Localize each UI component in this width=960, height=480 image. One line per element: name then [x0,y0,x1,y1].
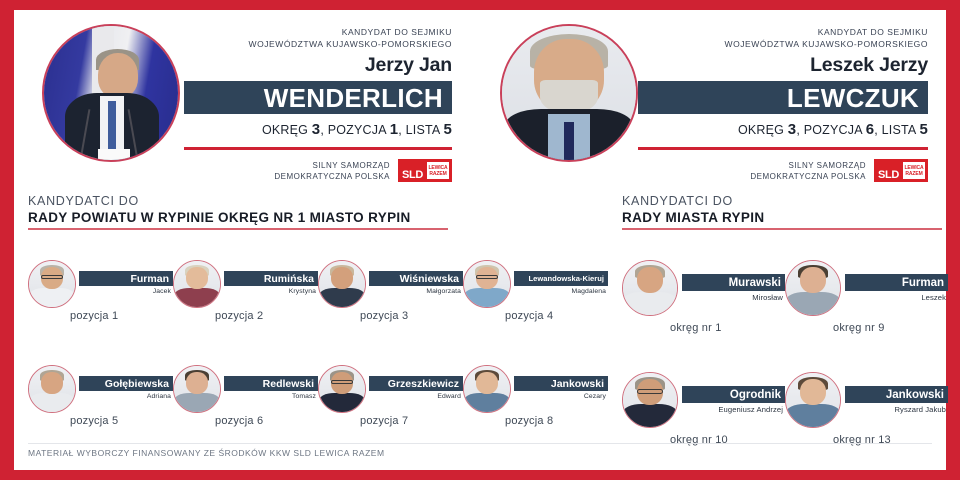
candidate-text-block: FurmanLeszek [845,252,948,302]
candidate-position-label: pozycja 1 [70,310,118,322]
slogan-line-1: SILNY SAMORZĄD [750,160,866,171]
candidate-surname-bar: WENDERLICH [184,81,452,114]
candidate-portrait [785,372,841,428]
candidate-first-name: Ryszard Jakub [845,405,948,414]
candidate-first-name: Leszek Jerzy [638,54,928,77]
candidate-card[interactable]: GrzeszkiewiczEdwardpozycja 7 [318,357,463,462]
portrait-art [29,366,75,412]
candidate-surname-bar: Jankowski [514,376,608,391]
position-value: 1 [390,121,399,138]
portrait-art [623,261,677,315]
candidate-surname-bar: Furman [79,271,173,286]
candidate-position-label: pozycja 3 [360,310,408,322]
candidate-portrait [318,365,366,413]
candidate-text-block: GrzeszkiewiczEdward [369,357,463,400]
portrait-art [786,261,840,315]
list-label: LISTA [406,123,440,137]
candidate-surname-bar: Grzeszkiewicz [369,376,463,391]
portrait-art [502,26,636,160]
candidate-first-name: Krystyna [224,288,318,295]
candidate-portrait [785,260,841,316]
sld-logo: SLD LEWICA RAZEM [398,159,452,182]
candidate-position-label: pozycja 4 [505,310,553,322]
portrait-art [174,366,220,412]
candidate-card[interactable]: RumińskaKrystynapozycja 2 [173,252,318,357]
sld-logo: SLD LEWICA RAZEM [874,159,928,182]
candidate-surname-bar: Jankowski [845,386,948,403]
candidate-text-block: JankowskiCezary [514,357,608,400]
candidate-text-block: OgrodnikEugeniusz Andrzej [682,364,785,414]
candidate-portrait [622,260,678,316]
section-heading-powiat: KANDYDATCI DO RADY POWIATU W RYPINIE OKR… [28,194,448,230]
sld-logo-mark: SLD [398,159,427,182]
candidate-surname: Wiśniewska [400,273,459,285]
candidate-portrait [463,365,511,413]
candidate-position-label: okręg nr 10 [670,434,728,446]
candidate-first-name: Eugeniusz Andrzej [682,405,785,414]
candidate-surname: Jankowski [886,389,944,401]
candidate-first-name: Magdalena [514,288,608,295]
portrait-art [464,261,510,307]
section-title: RADY POWIATU W RYPINIE OKRĘG NR 1 MIASTO… [28,209,448,226]
slogan-row: SILNY SAMORZĄD DEMOKRATYCZNA POLSKA SLD … [638,159,928,182]
candidate-first-name: Tomasz [224,393,318,400]
portrait-art [174,261,220,307]
candidate-card[interactable]: OgrodnikEugeniusz Andrzejokręg nr 10 [622,364,785,476]
candidate-portrait [173,365,221,413]
candidate-position-label: okręg nr 13 [833,434,891,446]
candidate-surname: Furman [902,277,944,289]
candidate-surname-bar: Lewandowska-Kieruj [514,271,608,286]
candidate-card[interactable]: GołębiewskaAdrianapozycja 5 [28,357,173,462]
candidate-card[interactable]: JankowskiRyszard Jakubokręg nr 13 [785,364,948,476]
portrait-art [623,373,677,427]
sld-logo-text: SLD [878,169,899,181]
candidate-position-label: okręg nr 9 [833,322,885,334]
candidate-text-block: RumińskaKrystyna [224,252,318,295]
ballot-info: OKRĘG 3, POZYCJA 1, LISTA 5 [184,121,452,138]
candidate-surname: Grzeszkiewicz [388,378,459,390]
candidate-surname-bar: Rumińska [224,271,318,286]
candidate-portrait [28,365,76,413]
position-label: POZYCJA [328,123,386,137]
candidate-first-name: Jacek [79,288,173,295]
district-value: 3 [312,121,321,138]
powiat-candidate-grid: FurmanJacekpozycja 1RumińskaKrystynapozy… [28,252,608,462]
candidate-position-label: pozycja 6 [215,415,263,427]
candidate-text-block: JankowskiRyszard Jakub [845,364,948,414]
candidate-surname: Ogrodnik [730,389,781,401]
eyebrow-line-1: KANDYDAT DO SEJMIKU [184,26,452,38]
portrait-art [29,261,75,307]
candidate-card[interactable]: FurmanJacekpozycja 1 [28,252,173,357]
eyebrow-line-2: WOJEWÓDZTWA KUJAWSKO-POMORSKIEGO [638,38,928,50]
candidate-surname-bar: Ogrodnik [682,386,785,403]
candidate-surname: LEWCZUK [787,85,919,111]
candidate-first-name: Mirosław [682,293,785,302]
slogan: SILNY SAMORZĄD DEMOKRATYCZNA POLSKA [274,160,390,182]
position-label: POZYCJA [804,123,862,137]
slogan-line-1: SILNY SAMORZĄD [274,160,390,171]
header-wenderlich: KANDYDAT DO SEJMIKU WOJEWÓDZTWA KUJAWSKO… [14,10,480,188]
candidate-position-label: pozycja 5 [70,415,118,427]
section-heading-miasto: KANDYDATCI DO RADY MIASTA RYPIN [622,194,942,230]
portrait-lewczuk [500,24,638,162]
slogan: SILNY SAMORZĄD DEMOKRATYCZNA POLSKA [750,160,866,182]
candidate-position-label: pozycja 2 [215,310,263,322]
candidate-portrait [28,260,76,308]
candidate-headers: KANDYDAT DO SEJMIKU WOJEWÓDZTWA KUJAWSKO… [14,10,946,188]
poster-sheet: KANDYDAT DO SEJMIKU WOJEWÓDZTWA KUJAWSKO… [14,10,946,470]
candidate-card[interactable]: RedlewskiTomaszpozycja 6 [173,357,318,462]
candidate-surname: Redlewski [263,378,314,390]
portrait-art [319,366,365,412]
candidate-surname-bar: Murawski [682,274,785,291]
district-label: OKRĘG [738,123,784,137]
candidate-position-label: okręg nr 1 [670,322,722,334]
candidate-surname-bar: Wiśniewska [369,271,463,286]
section-underline [622,228,942,230]
position-value: 6 [866,121,875,138]
section-underline [28,228,448,230]
candidate-text-block: RedlewskiTomasz [224,357,318,400]
candidate-card[interactable]: WiśniewskaMałgorzatapozycja 3 [318,252,463,357]
candidate-first-name: Leszek [845,293,948,302]
candidate-first-name: Jerzy Jan [184,54,452,77]
candidate-portrait [622,372,678,428]
candidate-first-name: Małgorzata [369,288,463,295]
sld-logo-sub-line-2: RAZEM [905,171,922,177]
list-value: 5 [443,121,452,138]
candidate-text-block: Lewandowska-KierujMagdalena [514,252,608,295]
candidate-surname: Gołębiewska [105,378,169,390]
district-value: 3 [788,121,797,138]
footer-disclaimer: MATERIAŁ WYBORCZY FINANSOWANY ZE ŚRODKÓW… [28,448,385,458]
slogan-row: SILNY SAMORZĄD DEMOKRATYCZNA POLSKA SLD … [184,159,452,182]
section-title: RADY MIASTA RYPIN [622,209,942,226]
candidate-portrait [463,260,511,308]
candidate-surname: WENDERLICH [264,85,443,111]
sld-logo-sub: LEWICA RAZEM [903,162,925,179]
candidate-first-name: Edward [369,393,463,400]
list-value: 5 [919,121,928,138]
portrait-art [786,373,840,427]
slogan-line-2: DEMOKRATYCZNA POLSKA [750,171,866,182]
candidate-surname-bar: Furman [845,274,948,291]
candidate-portrait [318,260,366,308]
header-text-block: KANDYDAT DO SEJMIKU WOJEWÓDZTWA KUJAWSKO… [638,26,928,182]
candidate-text-block: FurmanJacek [79,252,173,295]
portrait-art [44,26,178,160]
candidate-surname: Murawski [729,277,781,289]
candidate-portrait [173,260,221,308]
header-lewczuk: KANDYDAT DO SEJMIKU WOJEWÓDZTWA KUJAWSKO… [480,10,946,188]
candidate-surname: Lewandowska-Kieruj [528,274,604,283]
candidate-first-name: Cezary [514,393,608,400]
header-text-block: KANDYDAT DO SEJMIKU WOJEWÓDZTWA KUJAWSKO… [184,26,452,182]
candidate-card[interactable]: MurawskiMirosławokręg nr 1 [622,252,785,364]
candidate-text-block: MurawskiMirosław [682,252,785,302]
candidate-text-block: WiśniewskaMałgorzata [369,252,463,295]
footer-divider [28,443,932,444]
ballot-info: OKRĘG 3, POZYCJA 6, LISTA 5 [638,121,928,138]
candidate-surname: Rumińska [264,273,314,285]
election-poster: KANDYDAT DO SEJMIKU WOJEWÓDZTWA KUJAWSKO… [0,0,960,480]
candidate-card[interactable]: JankowskiCezarypozycja 8 [463,357,608,462]
sld-logo-sub-line-2: RAZEM [429,171,446,177]
eyebrow-line-2: WOJEWÓDZTWA KUJAWSKO-POMORSKIEGO [184,38,452,50]
district-label: OKRĘG [262,123,308,137]
slogan-line-2: DEMOKRATYCZNA POLSKA [274,171,390,182]
sld-logo-sub: LEWICA RAZEM [427,162,449,179]
eyebrow-line-1: KANDYDAT DO SEJMIKU [638,26,928,38]
sld-logo-text: SLD [402,169,423,181]
portrait-wenderlich [42,24,180,162]
candidate-first-name: Adriana [79,393,173,400]
candidate-surname-bar: LEWCZUK [638,81,928,114]
candidate-surname-bar: Redlewski [224,376,318,391]
candidate-surname: Jankowski [551,378,604,390]
candidate-text-block: GołębiewskaAdriana [79,357,173,400]
red-divider [638,147,928,150]
section-eyebrow: KANDYDATCI DO [622,194,942,209]
portrait-art [464,366,510,412]
candidate-card[interactable]: Lewandowska-KierujMagdalenapozycja 4 [463,252,608,357]
portrait-art [319,261,365,307]
red-divider [184,147,452,150]
candidate-card[interactable]: FurmanLeszekokręg nr 9 [785,252,948,364]
list-label: LISTA [882,123,916,137]
sld-logo-mark: SLD [874,159,903,182]
candidate-surname-bar: Gołębiewska [79,376,173,391]
candidate-position-label: pozycja 7 [360,415,408,427]
section-eyebrow: KANDYDATCI DO [28,194,448,209]
candidate-position-label: pozycja 8 [505,415,553,427]
candidate-surname: Furman [130,273,169,285]
